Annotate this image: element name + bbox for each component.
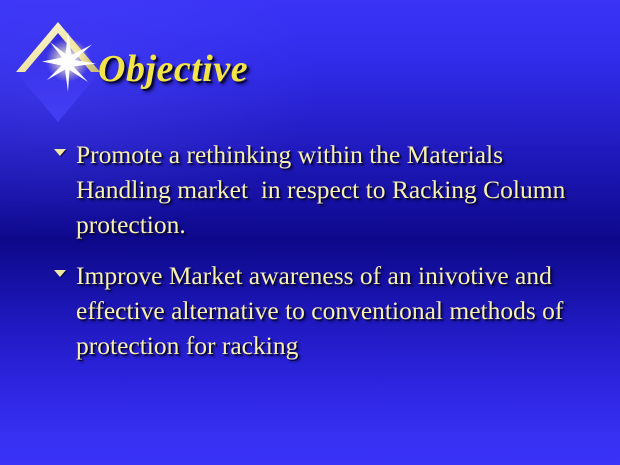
bullet-list: Promote a rethinking within the Material…	[52, 137, 592, 379]
slide-title: Objective	[98, 47, 248, 91]
presentation-slide: Objective Promote a rethinking within th…	[0, 0, 620, 465]
bullet-item: Promote a rethinking within the Material…	[52, 137, 592, 242]
triangle-down-icon	[54, 149, 66, 156]
bullet-item: Improve Market awareness of an inivotive…	[52, 258, 592, 363]
bullet-item-text: Promote a rethinking within the Material…	[76, 137, 592, 242]
diamond-starburst-logo	[12, 16, 104, 128]
bullet-item-text: Improve Market awareness of an inivotive…	[76, 258, 592, 363]
triangle-down-icon	[54, 270, 66, 277]
